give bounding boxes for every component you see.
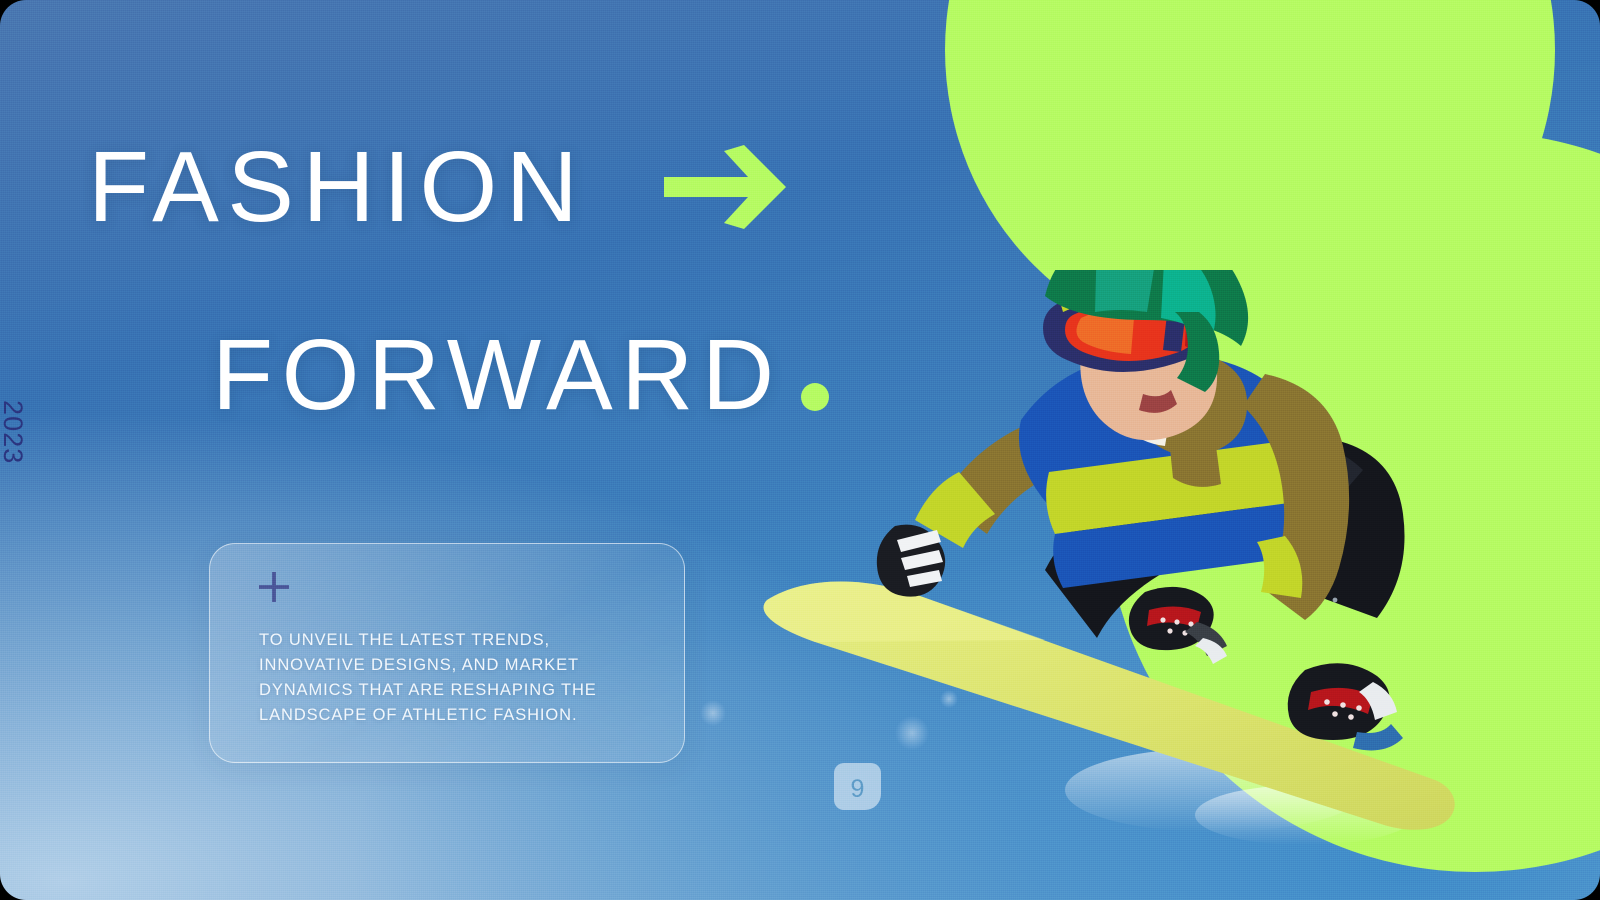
headline-word-forward: FORWARD <box>212 325 783 425</box>
headline-line-2: FORWARD <box>212 325 829 425</box>
description-card: TO UNVEIL THE LATEST TRENDS, INNOVATIVE … <box>209 543 685 763</box>
headline-word-fashion: FASHION <box>88 137 586 237</box>
headline-period-dot <box>801 383 829 411</box>
year-label: 2023 <box>0 400 28 490</box>
badge-number: 9 <box>851 775 865 803</box>
lens-flare <box>700 700 726 726</box>
presentation-slide: FASHION FORWARD 2023 TO UNVEIL THE LATES… <box>0 0 1600 900</box>
plus-icon <box>259 572 638 602</box>
arrow-right-icon <box>664 145 786 229</box>
card-body-text: TO UNVEIL THE LATEST TRENDS, INNOVATIVE … <box>259 628 638 728</box>
numbered-badge-icon: 9 <box>834 763 881 810</box>
headline-line-1: FASHION <box>88 137 786 237</box>
